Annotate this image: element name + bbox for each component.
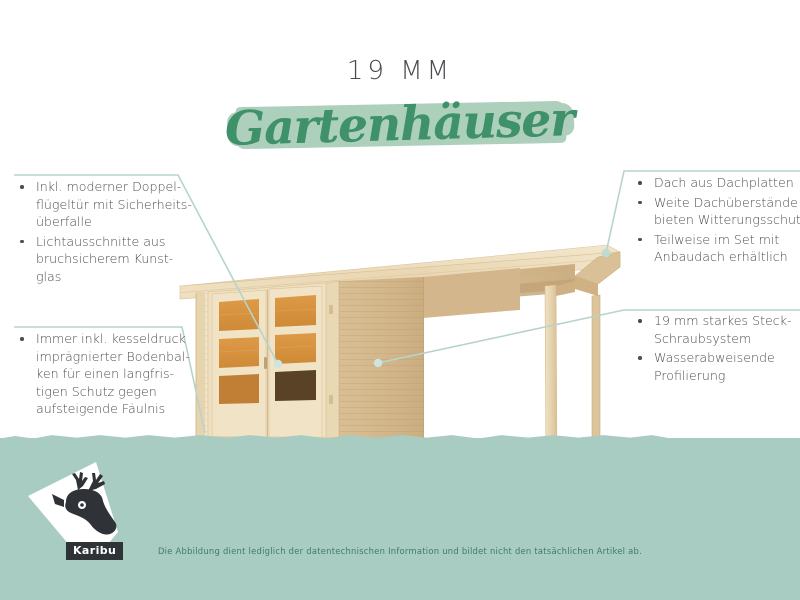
callout-top-right: Dach aus Dachplatten Weite Dachüberständ… xyxy=(632,174,800,268)
logo-pupil xyxy=(80,503,84,507)
callout-item: Lichtausschnitte ausbruchsicherem Kunst-… xyxy=(14,233,210,286)
door-handle xyxy=(264,357,267,369)
callout-item: Immer inkl. kesseldruckimprägnierter Bod… xyxy=(14,330,210,418)
door-glass-pane xyxy=(219,374,259,404)
callout-list: Dach aus Dachplatten Weite Dachüberständ… xyxy=(632,174,800,266)
callout-list: Inkl. moderner Doppel-flügeltür mit Sich… xyxy=(14,178,210,285)
callout-item: WasserabweisendeProfilierung xyxy=(632,349,800,384)
callout-list: 19 mm starkes Steck-Schraubsystem Wasser… xyxy=(632,312,800,384)
door-hinge xyxy=(329,305,333,314)
support-post-rear xyxy=(592,295,600,442)
door-glass-pane xyxy=(219,337,259,368)
callout-item: Inkl. moderner Doppel-flügeltür mit Sich… xyxy=(14,178,210,231)
brand-logo: Karibu xyxy=(22,460,126,562)
door-glass-pane xyxy=(275,333,316,364)
door-hinge xyxy=(329,395,333,404)
brand-name: Karibu xyxy=(66,542,123,560)
callout-list: Immer inkl. kesseldruckimprägnierter Bod… xyxy=(14,330,210,418)
callout-bottom-left: Immer inkl. kesseldruckimprägnierter Bod… xyxy=(14,330,210,420)
callout-item: 19 mm starkes Steck-Schraubsystem xyxy=(632,312,800,347)
callout-bottom-right: 19 mm starkes Steck-Schraubsystem Wasser… xyxy=(632,312,800,386)
band-brush-edge xyxy=(0,431,667,441)
product-infographic: 19 MM Gartenhäuser xyxy=(0,0,800,600)
canopy-open-shadow xyxy=(424,310,520,448)
door-glass-pane xyxy=(275,370,316,401)
callout-item: Weite Dachüberständebieten Witterungssch… xyxy=(632,194,800,229)
callout-top-left: Inkl. moderner Doppel-flügeltür mit Sich… xyxy=(14,178,210,287)
callout-item: Dach aus Dachplatten xyxy=(632,174,800,192)
callout-item: Teilweise im Set mitAnbaudach erhältlich xyxy=(632,231,800,266)
